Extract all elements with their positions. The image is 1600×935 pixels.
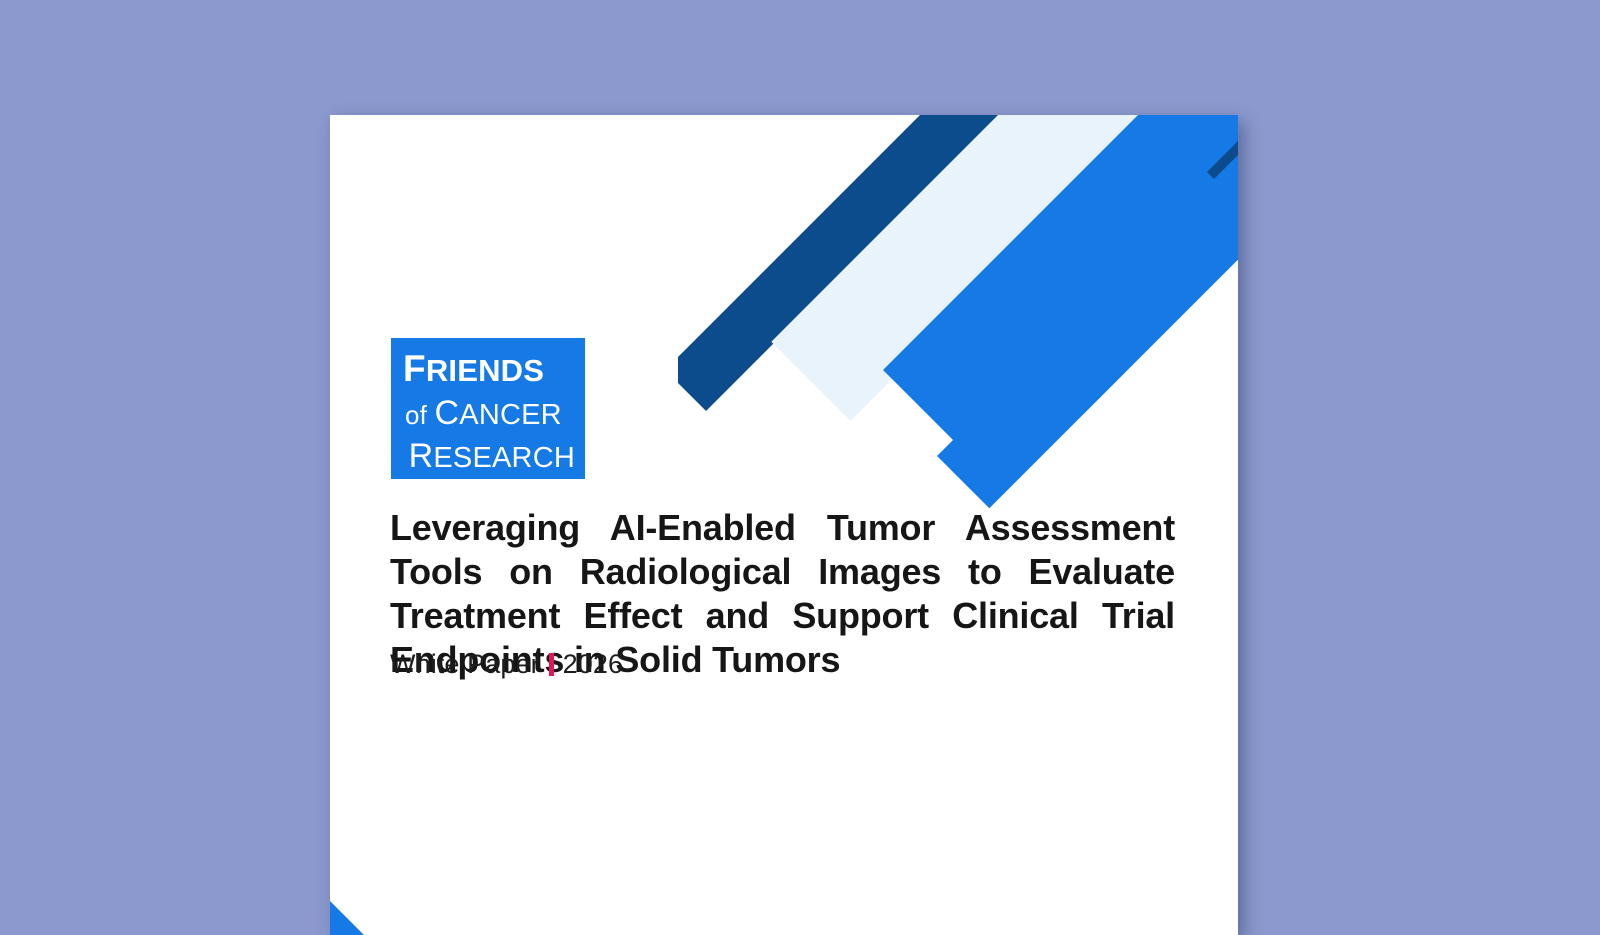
logo-rest-ancer: ANCER: [459, 399, 562, 431]
document-type-label: White Paper: [390, 649, 540, 679]
navy-band-1: [678, 115, 1201, 411]
corner-accent-triangle: [330, 901, 364, 935]
blue-band-1: [883, 115, 1238, 459]
logo-line-research: RESEARCH: [403, 439, 575, 473]
subtitle-separator-bar: [549, 653, 554, 676]
navy-band-2: [1207, 115, 1238, 278]
document-page: FRIENDS of CANCER RESEARCH Leveraging AI…: [330, 115, 1238, 935]
blue-band-2: [937, 115, 1238, 508]
logo-word-of: of: [405, 400, 435, 430]
logo-line-friends: FRIENDS: [403, 350, 575, 387]
logo-rest-esearch: ESEARCH: [433, 442, 575, 474]
logo-initial-f: F: [403, 348, 426, 389]
screenshot-viewport: FRIENDS of CANCER RESEARCH Leveraging AI…: [0, 0, 1600, 899]
logo-line-of-cancer: of CANCER: [403, 396, 575, 430]
friends-of-cancer-research-logo: FRIENDS of CANCER RESEARCH: [391, 338, 585, 479]
logo-rest-riends: RIENDS: [426, 353, 544, 388]
document-subtitle: White Paper2026: [390, 649, 623, 680]
pale-band-1: [771, 115, 1238, 421]
document-year-label: 2026: [563, 649, 623, 679]
logo-initial-r: R: [409, 437, 434, 475]
logo-initial-c: C: [435, 394, 460, 432]
